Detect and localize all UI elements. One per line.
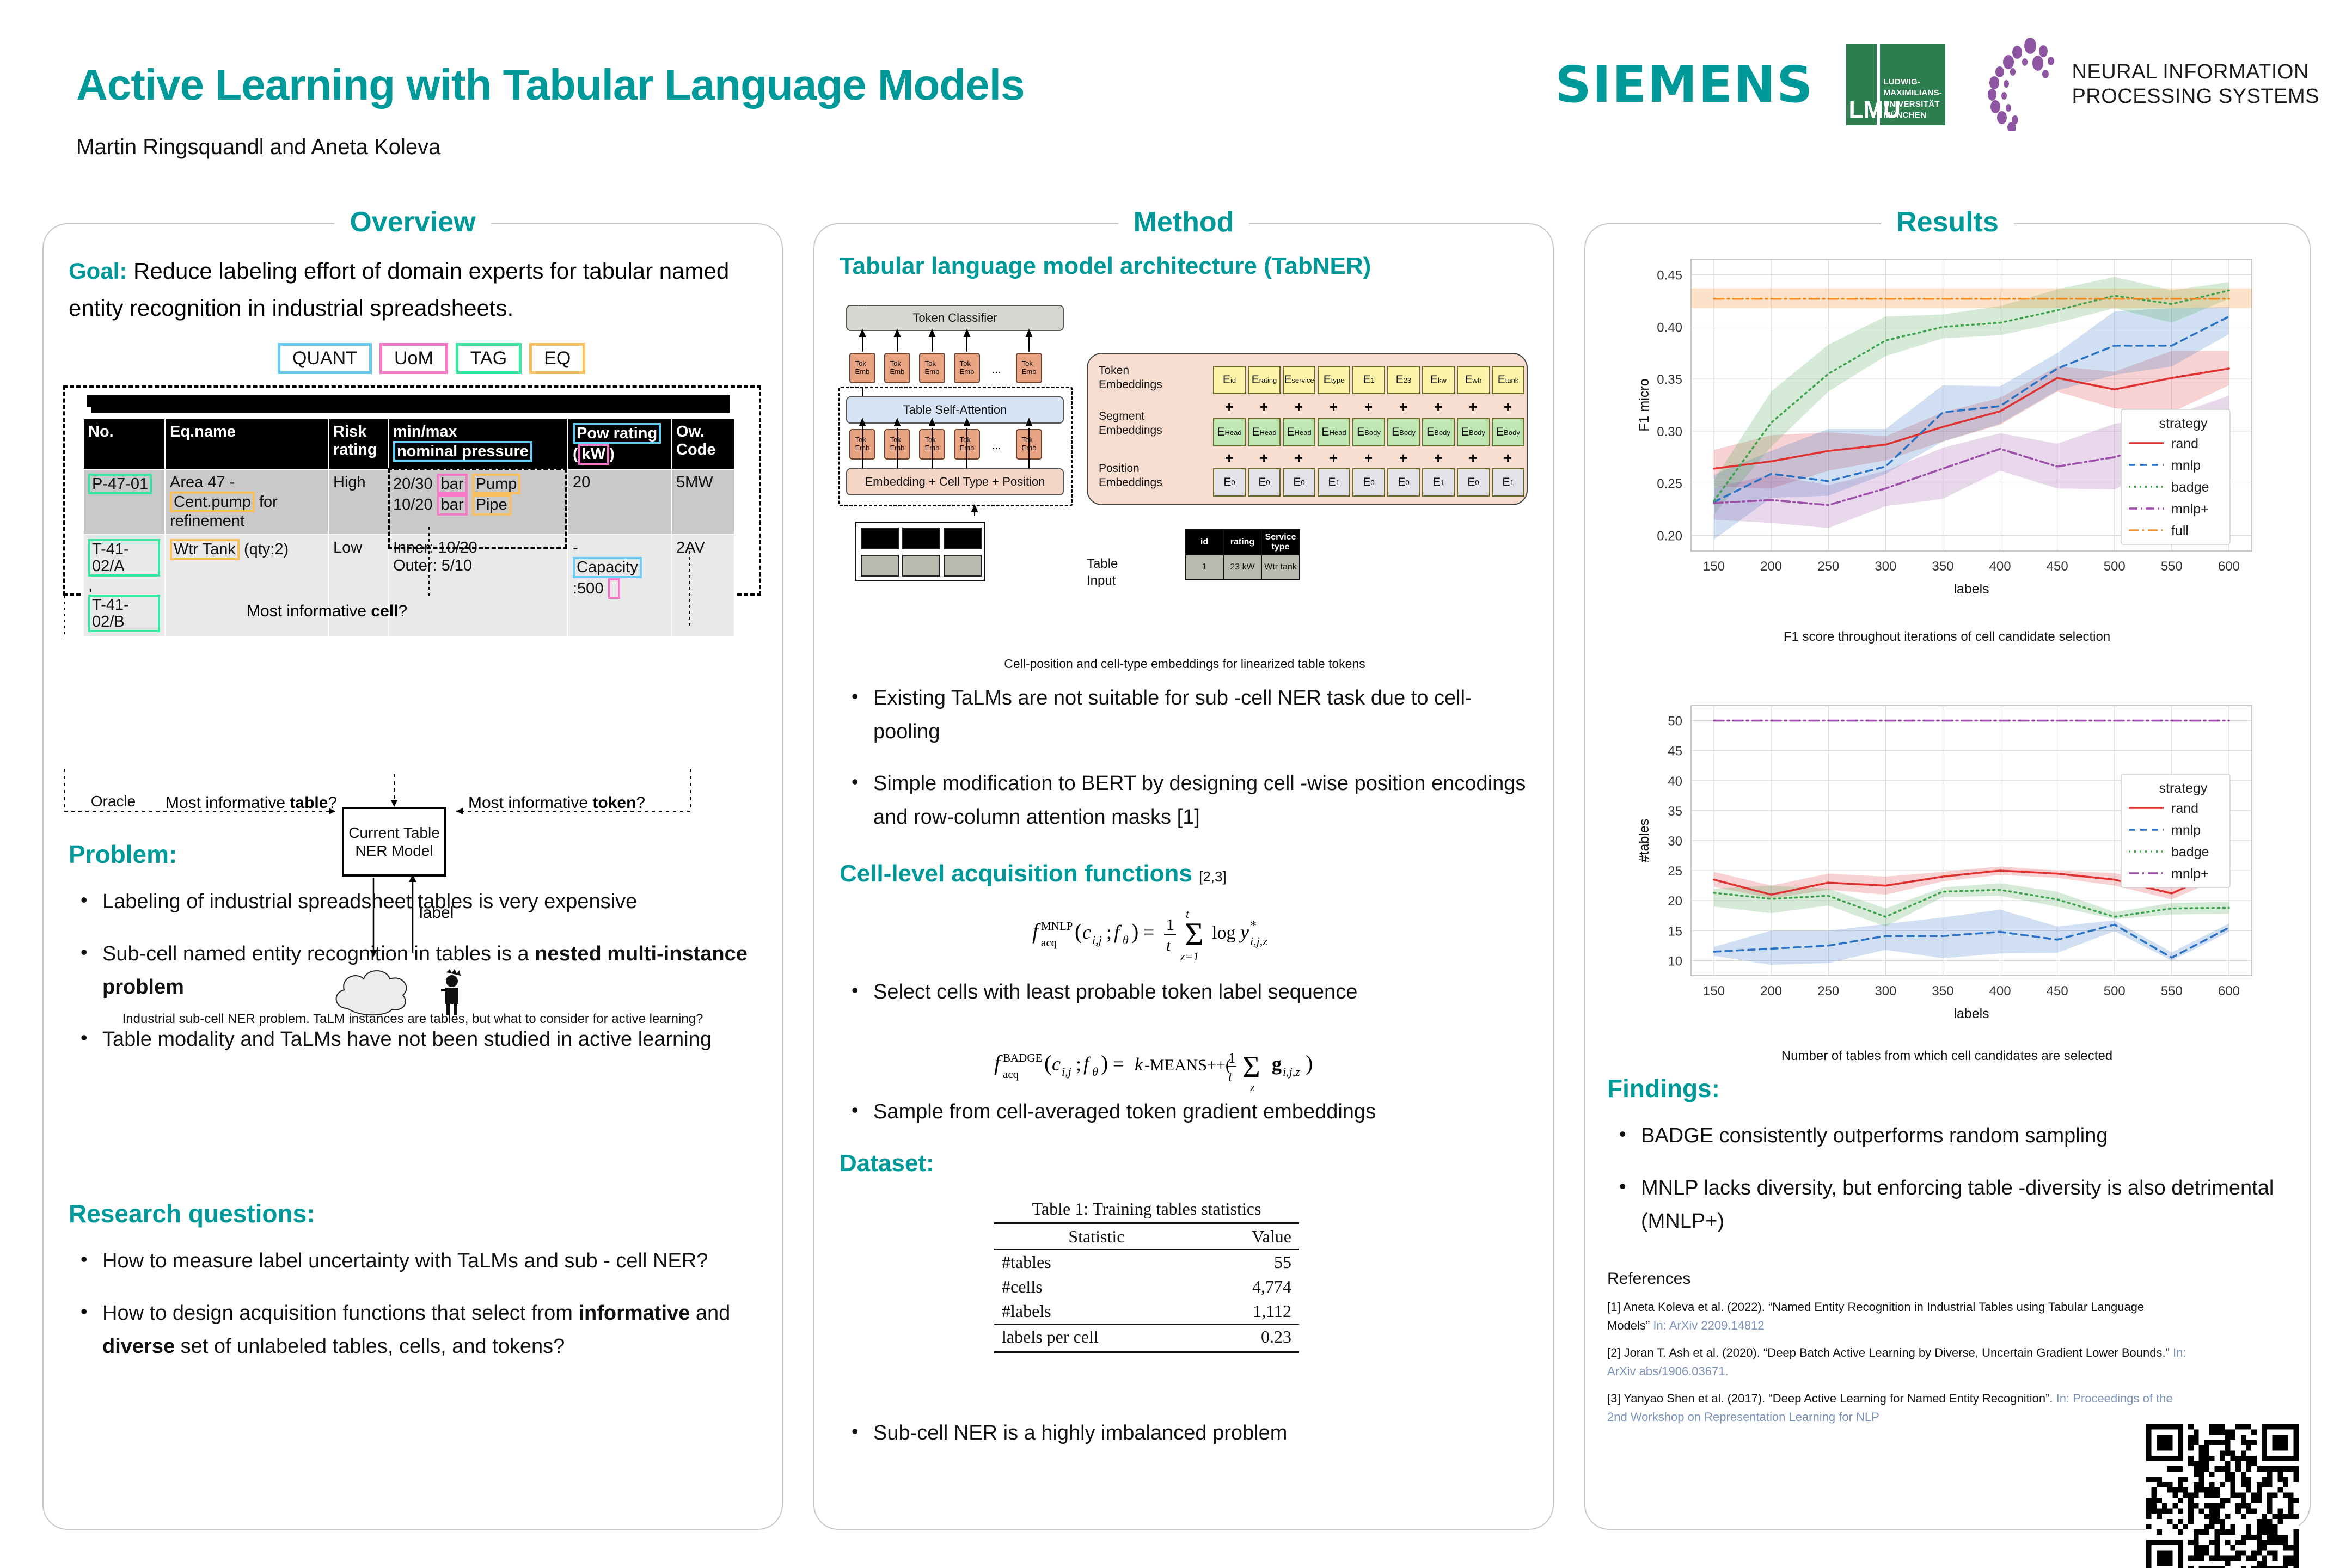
chart-num-tables-svg: 1502002503003504004505005506001015202530…	[1609, 693, 2284, 1046]
stacked-table-1	[91, 401, 730, 413]
svg-text:f: f	[1083, 1053, 1092, 1075]
mini-td-1: 23 kW	[1223, 555, 1261, 580]
oracle-label: Oracle	[59, 793, 168, 810]
svg-text:35: 35	[1668, 804, 1682, 819]
svg-text:mnlp+: mnlp+	[2171, 501, 2209, 517]
th-risk: Riskrating	[328, 419, 388, 469]
lmu-logo-bar: LMU	[1846, 44, 1877, 125]
svg-text:rand: rand	[2171, 436, 2198, 451]
research-questions-section: Research questions: How to measure label…	[69, 1199, 760, 1382]
token-embedding-chip: Etype	[1318, 366, 1350, 394]
segment-embedding-chip: EBody	[1457, 418, 1490, 446]
mini-th-2: Service type	[1261, 530, 1300, 555]
reference-item: [2] Joran T. Ash et al. (2020). “Deep Ba…	[1607, 1344, 2190, 1381]
svg-text:z: z	[1249, 1080, 1255, 1094]
svg-text:1: 1	[1228, 1050, 1235, 1066]
plus-sign: +	[1225, 450, 1233, 467]
plus-sign: +	[1225, 399, 1233, 415]
svg-text:): )	[1306, 1051, 1313, 1075]
svg-text:Σ: Σ	[1185, 916, 1204, 952]
token-embedding-chip: E1	[1352, 366, 1385, 394]
neurips-wordmark: NEURAL INFORMATION PROCESSING SYSTEMS	[2072, 60, 2319, 109]
svg-text:400: 400	[1989, 559, 2011, 574]
svg-text:450: 450	[2047, 984, 2068, 999]
panel-method-title-text: Method	[1118, 206, 1249, 238]
rq-item-0-text: How to measure label uncertainty with Ta…	[102, 1249, 708, 1272]
ds-r2-v: 1,112	[1199, 1299, 1299, 1324]
svg-text:c: c	[1082, 921, 1091, 943]
svg-text:200: 200	[1760, 984, 1782, 999]
panel-overview-title-text: Overview	[334, 206, 491, 238]
formula-badge-svg: f BADGE acq ( c i,j ; f θ ) = k -MEANS++…	[994, 1036, 1375, 1095]
th-pressure-highlight: nominal pressure	[393, 441, 532, 462]
svg-text:θ: θ	[1123, 933, 1129, 947]
svg-text:(: (	[1075, 919, 1082, 944]
logo-row: SIEMENS LMU LUDWIG- MAXIMILIANS- UNIVERS…	[1555, 38, 2319, 131]
dataset-heading: Dataset:	[840, 1150, 934, 1177]
list-item: Sub-cell NER is a highly imbalanced prob…	[840, 1417, 1531, 1450]
annotation-most-informative-token: Most informative token?	[468, 794, 645, 812]
spreadsheet-figure: No. Eq.name Riskrating min/max nominal p…	[59, 382, 767, 796]
td-r2-no-b: T-41-02/B	[88, 595, 160, 632]
entity-tag-legend: QUANT UoM TAG EQ	[278, 343, 585, 374]
plus-sign: +	[1434, 399, 1442, 415]
segment-embedding-chip: EBody	[1492, 418, 1524, 446]
method-bullets-3: Sample from cell-averaged token gradient…	[840, 1095, 1531, 1148]
svg-text:): )	[1131, 919, 1138, 944]
ds-col-0: Statistic	[994, 1223, 1199, 1249]
architecture-arrows	[831, 305, 1092, 534]
svg-text:t: t	[1166, 936, 1171, 954]
ds-r1-v: 4,774	[1199, 1275, 1299, 1299]
td-r1-no-highlight: P-47-01	[88, 474, 152, 494]
poster-header: Active Learning with Tabular Language Mo…	[0, 0, 2352, 180]
th-pressure: min/max nominal pressure	[388, 419, 568, 469]
neurips-dots-icon	[1978, 38, 2065, 131]
research-questions-heading: Research questions:	[69, 1199, 760, 1228]
svg-text:=: =	[1113, 1053, 1124, 1075]
svg-text:*: *	[1250, 919, 1257, 933]
goal-text: Reduce labeling effort of domain experts…	[69, 258, 729, 321]
position-embedding-chip: E1	[1422, 468, 1455, 497]
svg-text:i,j,z: i,j,z	[1283, 1065, 1300, 1079]
position-embeddings-label: PositionEmbeddings	[1099, 462, 1162, 491]
findings-list: BADGE consistently outperforms random sa…	[1607, 1119, 2288, 1239]
reference-2-text: [3] Yanyao Shen et al. (2017). “Deep Act…	[1607, 1392, 2053, 1405]
findings-heading: Findings:	[1607, 1074, 2288, 1103]
panel-method: Method Tabular language model architectu…	[813, 223, 1554, 1530]
method-list-2: Select cells with least probable token l…	[840, 976, 1531, 1009]
mini-td-0: 1	[1185, 555, 1223, 580]
svg-text:f: f	[1114, 921, 1122, 943]
th-pow-paren-close: )	[609, 445, 615, 463]
plus-sign: +	[1364, 450, 1373, 467]
ds-col-1: Value	[1199, 1223, 1299, 1249]
td-r2-pow-highlight: Capacity	[573, 557, 642, 578]
svg-text:f: f	[994, 1051, 1003, 1075]
svg-text:y: y	[1239, 921, 1249, 943]
token-embedding-chip: Etank	[1492, 366, 1524, 394]
reference-0-link[interactable]: In: ArXiv 2209.14812	[1650, 1319, 1764, 1332]
list-item: Select cells with least probable token l…	[840, 976, 1531, 1009]
td-r2-pow-rest: :500	[573, 580, 603, 597]
mini-td-2: Wtr tank	[1261, 555, 1300, 580]
panel-method-title: Method	[814, 206, 1553, 238]
list-item: How to design acquisition functions that…	[69, 1297, 760, 1364]
panel-overview-title: Overview	[44, 206, 782, 238]
svg-text:200: 200	[1760, 559, 1782, 574]
td-r2-pow-dash: -	[573, 539, 578, 556]
svg-text:550: 550	[2161, 984, 2183, 999]
segment-embedding-chip: EHead	[1248, 418, 1281, 446]
svg-text:250: 250	[1817, 984, 1839, 999]
svg-text:350: 350	[1932, 984, 1953, 999]
acquisition-functions-heading: Cell-level acquisition functions [2,3]	[840, 860, 1227, 887]
chart-f1-caption: F1 score throughout iterations of cell c…	[1609, 629, 2284, 645]
th-pow-unit-highlight: kW	[578, 444, 610, 464]
reference-item: [1] Aneta Koleva et al. (2022). “Named E…	[1607, 1298, 2190, 1335]
rq-item-1-mid: and	[690, 1302, 730, 1325]
method-list-3: Sample from cell-averaged token gradient…	[840, 1095, 1531, 1129]
svg-text:g: g	[1272, 1053, 1282, 1075]
svg-text:i,j: i,j	[1092, 933, 1102, 947]
svg-text:500: 500	[2104, 984, 2126, 999]
list-item: Labeling of industrial spreadsheet table…	[69, 885, 760, 919]
plus-sign: +	[1504, 450, 1512, 467]
td-r2-no-a: T-41-02/A	[88, 539, 160, 577]
svg-text:=: =	[1143, 921, 1154, 943]
svg-text:i,j: i,j	[1062, 1065, 1071, 1079]
position-embedding-chip: E0	[1248, 468, 1281, 497]
svg-text:rand: rand	[2171, 801, 2198, 816]
svg-text:acq: acq	[1041, 936, 1057, 949]
svg-text:mnlp: mnlp	[2171, 823, 2201, 838]
th-pow-paren-open: (	[573, 445, 578, 463]
svg-text:350: 350	[1932, 559, 1953, 574]
svg-text:c: c	[1052, 1053, 1061, 1075]
tag-tag: TAG	[456, 343, 522, 374]
svg-text:BADGE: BADGE	[1003, 1051, 1042, 1064]
svg-text:550: 550	[2161, 559, 2183, 574]
panel-results-title-text: Results	[1881, 206, 2014, 238]
svg-text:): )	[1101, 1051, 1108, 1075]
body-cell-icon	[944, 555, 982, 577]
list-item: Sample from cell-averaged token gradient…	[840, 1095, 1531, 1129]
plus-sign: +	[1504, 399, 1512, 415]
svg-text:0.20: 0.20	[1657, 529, 1682, 543]
svg-text:mnlp+: mnlp+	[2171, 866, 2209, 881]
svg-text:(: (	[1044, 1051, 1051, 1075]
list-item: Sub-cell named entity recognition in tab…	[69, 938, 760, 1004]
th-pow-highlight: Pow rating	[573, 423, 661, 444]
reference-1-text: [2] Joran T. Ash et al. (2020). “Deep Ba…	[1607, 1346, 2170, 1359]
problem-item-2-text: Table modality and TaLMs have not been s…	[102, 1028, 712, 1051]
token-embedding-chip: Eid	[1213, 366, 1246, 394]
problem-item-1-text: Sub-cell named entity recognition in tab…	[102, 942, 535, 965]
td-r2-no: T-41-02/A, T-41-02/B	[83, 535, 165, 636]
td-r2-name-highlight: Wtr Tank	[170, 539, 240, 560]
architecture-caption: Cell-position and cell-type embeddings f…	[831, 657, 1539, 671]
td-r2-ow: 2AV	[671, 535, 734, 636]
plus-sign: +	[1469, 450, 1477, 467]
svg-text:1: 1	[1166, 916, 1174, 934]
td-r1-name-pre: Area 47 -	[170, 474, 235, 491]
token-embedding-chip: Ekw	[1422, 366, 1455, 394]
header-cell-icon	[902, 528, 940, 549]
list-item: BADGE consistently outperforms random sa…	[1607, 1119, 2288, 1153]
rq-item-1-pre: How to design acquisition functions that…	[102, 1302, 578, 1325]
tag-uom: UoM	[379, 343, 448, 374]
svg-text:0.35: 0.35	[1657, 372, 1682, 387]
ds-r2-k: #labels	[994, 1299, 1199, 1324]
chart-num-tables: 1502002503003504004505005506001015202530…	[1609, 693, 2284, 1068]
page-title: Active Learning with Tabular Language Mo…	[76, 60, 1024, 110]
chart-tables-caption: Number of tables from which cell candida…	[1609, 1049, 2284, 1064]
neurips-logo: NEURAL INFORMATION PROCESSING SYSTEMS	[1978, 38, 2319, 131]
svg-text:θ: θ	[1092, 1065, 1098, 1079]
token-embeddings-label: TokenEmbeddings	[1099, 364, 1162, 393]
list-item: Simple modification to BERT by designing…	[840, 767, 1531, 834]
svg-text:20: 20	[1668, 894, 1682, 909]
position-embedding-chip: E0	[1352, 468, 1385, 497]
panel-results: Results 1502002503003504004505005506000.…	[1584, 223, 2311, 1530]
svg-text:0.45: 0.45	[1657, 268, 1682, 283]
method-bullets-2: Select cells with least probable token l…	[840, 976, 1531, 1028]
th-pressure-minmax: min/max	[393, 423, 457, 440]
svg-text:400: 400	[1989, 984, 2011, 999]
formula-badge: f BADGE acq ( c i,j ; f θ ) = k -MEANS++…	[814, 1036, 1555, 1101]
method-list-4: Sub-cell NER is a highly imbalanced prob…	[840, 1417, 1531, 1450]
svg-text:-MEANS++(: -MEANS++(	[1144, 1056, 1231, 1074]
td-r2-pow: - Capacity:500	[568, 535, 671, 636]
mini-th-0: id	[1185, 530, 1223, 555]
ds-r0-v: 55	[1199, 1249, 1299, 1275]
plus-sign: +	[1399, 399, 1407, 415]
chart-f1-micro: 1502002503003504004505005506000.200.250.…	[1609, 246, 2284, 649]
td-r2-name-post: (qty:2)	[240, 541, 289, 558]
td-r1-risk: High	[328, 469, 388, 535]
header-cell-icon	[861, 528, 899, 549]
problem-heading: Problem:	[69, 840, 760, 869]
panel-overview: Overview Goal: Reduce labeling effort of…	[42, 223, 783, 1530]
svg-text:z=1: z=1	[1180, 950, 1199, 963]
svg-text:50: 50	[1668, 714, 1682, 729]
svg-text:0.40: 0.40	[1657, 320, 1682, 335]
method-bullets-1: Existing TaLMs are not suitable for sub …	[840, 682, 1531, 853]
segment-embedding-chip: EBody	[1387, 418, 1420, 446]
th-name: Eq.name	[165, 419, 328, 469]
neurips-line-1: NEURAL INFORMATION	[2072, 60, 2319, 84]
plus-sign: +	[1295, 399, 1303, 415]
plus-sign: +	[1330, 450, 1338, 467]
td-r1-name: Area 47 - Cent.pump for refinement	[165, 469, 328, 535]
table-row: #cells 4,774	[994, 1275, 1299, 1299]
svg-text:450: 450	[2047, 559, 2068, 574]
tag-eq: EQ	[529, 343, 585, 374]
svg-text:full: full	[2171, 523, 2189, 538]
segment-embedding-chip: EBody	[1422, 418, 1455, 446]
research-questions-list: How to measure label uncertainty with Ta…	[69, 1245, 760, 1364]
body-cell-icon	[861, 555, 899, 577]
poster-canvas: Active Learning with Tabular Language Mo…	[0, 0, 2352, 1568]
plus-sign: +	[1469, 399, 1477, 415]
rq-item-1-post: set of unlabeled tables, cells, and toke…	[175, 1335, 565, 1358]
body-cell-icon	[902, 555, 940, 577]
table-header-row: No. Eq.name Riskrating min/max nominal p…	[83, 419, 734, 469]
svg-text:0.30: 0.30	[1657, 425, 1682, 439]
td-r2-pressure: Inner: 10/20 Outer: 5/10	[388, 535, 568, 636]
svg-text:t: t	[1228, 1069, 1233, 1085]
position-embedding-chip: E0	[1457, 468, 1490, 497]
table-row: id rating Service type	[1185, 530, 1300, 555]
position-embedding-chip: E0	[1387, 468, 1420, 497]
svg-text:labels: labels	[1953, 581, 1989, 597]
segment-embedding-chip: EHead	[1213, 418, 1246, 446]
token-embedding-chip: Erating	[1248, 366, 1281, 394]
references-heading: References	[1607, 1270, 2190, 1288]
tabner-architecture-diagram: Token Classifier Table Self-Attention Em…	[831, 305, 1539, 566]
position-embedding-chip: E0	[1213, 468, 1246, 497]
annotation-most-informative-cell: Most informative cell?	[247, 602, 407, 621]
svg-text:strategy: strategy	[2159, 781, 2208, 796]
findings-section: Findings: BADGE consistently outperforms…	[1607, 1074, 2288, 1257]
plus-sign: +	[1330, 399, 1338, 415]
method-list-1: Existing TaLMs are not suitable for sub …	[840, 682, 1531, 834]
td-r1-ow: 5MW	[671, 469, 734, 535]
td-r1-no: P-47-01	[83, 469, 165, 535]
svg-text:strategy: strategy	[2159, 416, 2208, 431]
svg-text:acq: acq	[1003, 1068, 1019, 1081]
svg-text:45: 45	[1668, 744, 1682, 759]
goal-statement: Goal: Reduce labeling effort of domain e…	[69, 253, 760, 327]
rq-item-1-bold-2: diverse	[102, 1335, 175, 1358]
svg-text:30: 30	[1668, 834, 1682, 849]
list-item: Table modality and TaLMs have not been s…	[69, 1023, 760, 1057]
svg-text:F1 micro: F1 micro	[1637, 378, 1652, 431]
table-row: #tables 55	[994, 1249, 1299, 1275]
table-footer-row: labels per cell 0.23	[994, 1324, 1299, 1349]
plus-sign: +	[1434, 450, 1442, 467]
dataset-table: Statistic Value #tables 55 #cells 4,774 …	[994, 1222, 1299, 1349]
list-item: How to measure label uncertainty with Ta…	[69, 1245, 760, 1278]
svg-text:badge: badge	[2171, 480, 2209, 495]
references-section: References [1] Aneta Koleva et al. (2022…	[1607, 1270, 2190, 1436]
list-item: MNLP lacks diversity, but enforcing tabl…	[1607, 1172, 2288, 1239]
table-corpus-icon	[855, 522, 985, 581]
td-r2-p2: Outer: 5/10	[393, 557, 472, 574]
dataset-statistics-table: Table 1: Training tables statistics Stat…	[994, 1199, 1299, 1353]
lmu-logo: LMU LUDWIG- MAXIMILIANS- UNIVERSITÄT MÜN…	[1846, 44, 1945, 125]
dataset-table-caption: Table 1: Training tables statistics	[994, 1199, 1299, 1219]
authors: Martin Ringsquandl and Aneta Koleva	[76, 135, 440, 160]
problem-section: Problem: Labeling of industrial spreadsh…	[69, 840, 760, 1075]
table-input-label: TableInput	[1087, 555, 1118, 589]
qr-code[interactable]	[2146, 1424, 2299, 1568]
position-embedding-chip: E1	[1492, 468, 1524, 497]
svg-text:40: 40	[1668, 774, 1682, 789]
svg-text:log: log	[1212, 923, 1235, 943]
table-row: #labels 1,112	[994, 1299, 1299, 1324]
reference-item: [3] Yanyao Shen et al. (2017). “Deep Act…	[1607, 1389, 2190, 1426]
token-embedding-chip: Eservice	[1283, 366, 1315, 394]
table-row: 1 23 kW Wtr tank	[1185, 555, 1300, 580]
goal-label: Goal:	[69, 258, 127, 284]
th-no: No.	[83, 419, 165, 469]
neurips-line-2: PROCESSING SYSTEMS	[2072, 84, 2319, 109]
segment-embeddings-label: SegmentEmbeddings	[1099, 409, 1162, 438]
svg-text:f: f	[1032, 919, 1041, 944]
acq-title-text: Cell-level acquisition functions	[840, 860, 1192, 887]
svg-text:25: 25	[1668, 864, 1682, 879]
svg-text:500: 500	[2104, 559, 2126, 574]
svg-text:300: 300	[1875, 984, 1896, 999]
dataset-table-bottom-rule	[994, 1351, 1299, 1353]
method-bullets-4: Sub-cell NER is a highly imbalanced prob…	[840, 1417, 1531, 1469]
mini-th-1: rating	[1223, 530, 1261, 555]
formula-mnlp-svg: f MNLP acq ( c i,j ; f θ ) = 1 t Σ t z=1…	[1032, 904, 1337, 964]
acq-title-refs: [2,3]	[1199, 868, 1227, 885]
svg-text:600: 600	[2218, 559, 2240, 574]
ds-foot-k: labels per cell	[994, 1324, 1199, 1349]
td-r2-no-sep: ,	[88, 577, 93, 594]
plus-sign: +	[1260, 399, 1268, 415]
td-r2-risk: Low	[328, 535, 388, 636]
ds-r1-k: #cells	[994, 1275, 1199, 1299]
plus-sign: +	[1295, 450, 1303, 467]
lmu-logo-letters: LMU	[1848, 98, 1900, 122]
segment-embedding-chip: EHead	[1318, 418, 1350, 446]
svg-text:150: 150	[1703, 984, 1725, 999]
svg-text:250: 250	[1817, 559, 1839, 574]
token-embedding-chip: Ewtr	[1457, 366, 1490, 394]
svg-text:t: t	[1186, 907, 1190, 921]
th-pow: Pow rating (kW)	[568, 419, 671, 469]
svg-text:;: ;	[1076, 1053, 1081, 1075]
svg-text:;: ;	[1106, 921, 1112, 943]
svg-text:badge: badge	[2171, 844, 2209, 860]
svg-text:mnlp: mnlp	[2171, 458, 2201, 473]
svg-text:k: k	[1135, 1055, 1143, 1075]
svg-text:MNLP: MNLP	[1041, 920, 1073, 933]
svg-text:150: 150	[1703, 559, 1725, 574]
table-header-row: Statistic Value	[994, 1223, 1299, 1249]
segment-embedding-chip: EHead	[1283, 418, 1315, 446]
ds-foot-v: 0.23	[1199, 1324, 1299, 1349]
position-embedding-chip: E0	[1283, 468, 1315, 497]
td-r1-name-highlight: Cent.pump	[170, 492, 255, 512]
svg-text:15: 15	[1668, 924, 1682, 939]
ds-r0-k: #tables	[994, 1249, 1199, 1275]
panel-results-title: Results	[1585, 206, 2310, 238]
svg-text:10: 10	[1668, 954, 1682, 969]
formula-mnlp: f MNLP acq ( c i,j ; f θ ) = 1 t Σ t z=1…	[814, 904, 1555, 969]
td-r2-name: Wtr Tank (qty:2)	[165, 535, 328, 636]
svg-text:Σ: Σ	[1242, 1050, 1260, 1084]
position-embedding-chip: E1	[1318, 468, 1350, 497]
list-item: Existing TaLMs are not suitable for sub …	[840, 682, 1531, 749]
table-input-example: id rating Service type 1 23 kW Wtr tank	[1185, 529, 1300, 580]
svg-text:300: 300	[1875, 559, 1896, 574]
table-row: T-41-02/A, T-41-02/B Wtr Tank (qty:2) Lo…	[83, 535, 734, 636]
segment-embedding-chip: EBody	[1352, 418, 1385, 446]
tag-quant: QUANT	[278, 343, 372, 374]
svg-text:600: 600	[2218, 984, 2240, 999]
svg-text:labels: labels	[1953, 1006, 1989, 1021]
th-ow: Ow.Code	[671, 419, 734, 469]
lmu-line-1: LUDWIG-	[1883, 77, 1942, 88]
plus-sign: +	[1364, 399, 1373, 415]
architecture-heading: Tabular language model architecture (Tab…	[840, 253, 1371, 280]
